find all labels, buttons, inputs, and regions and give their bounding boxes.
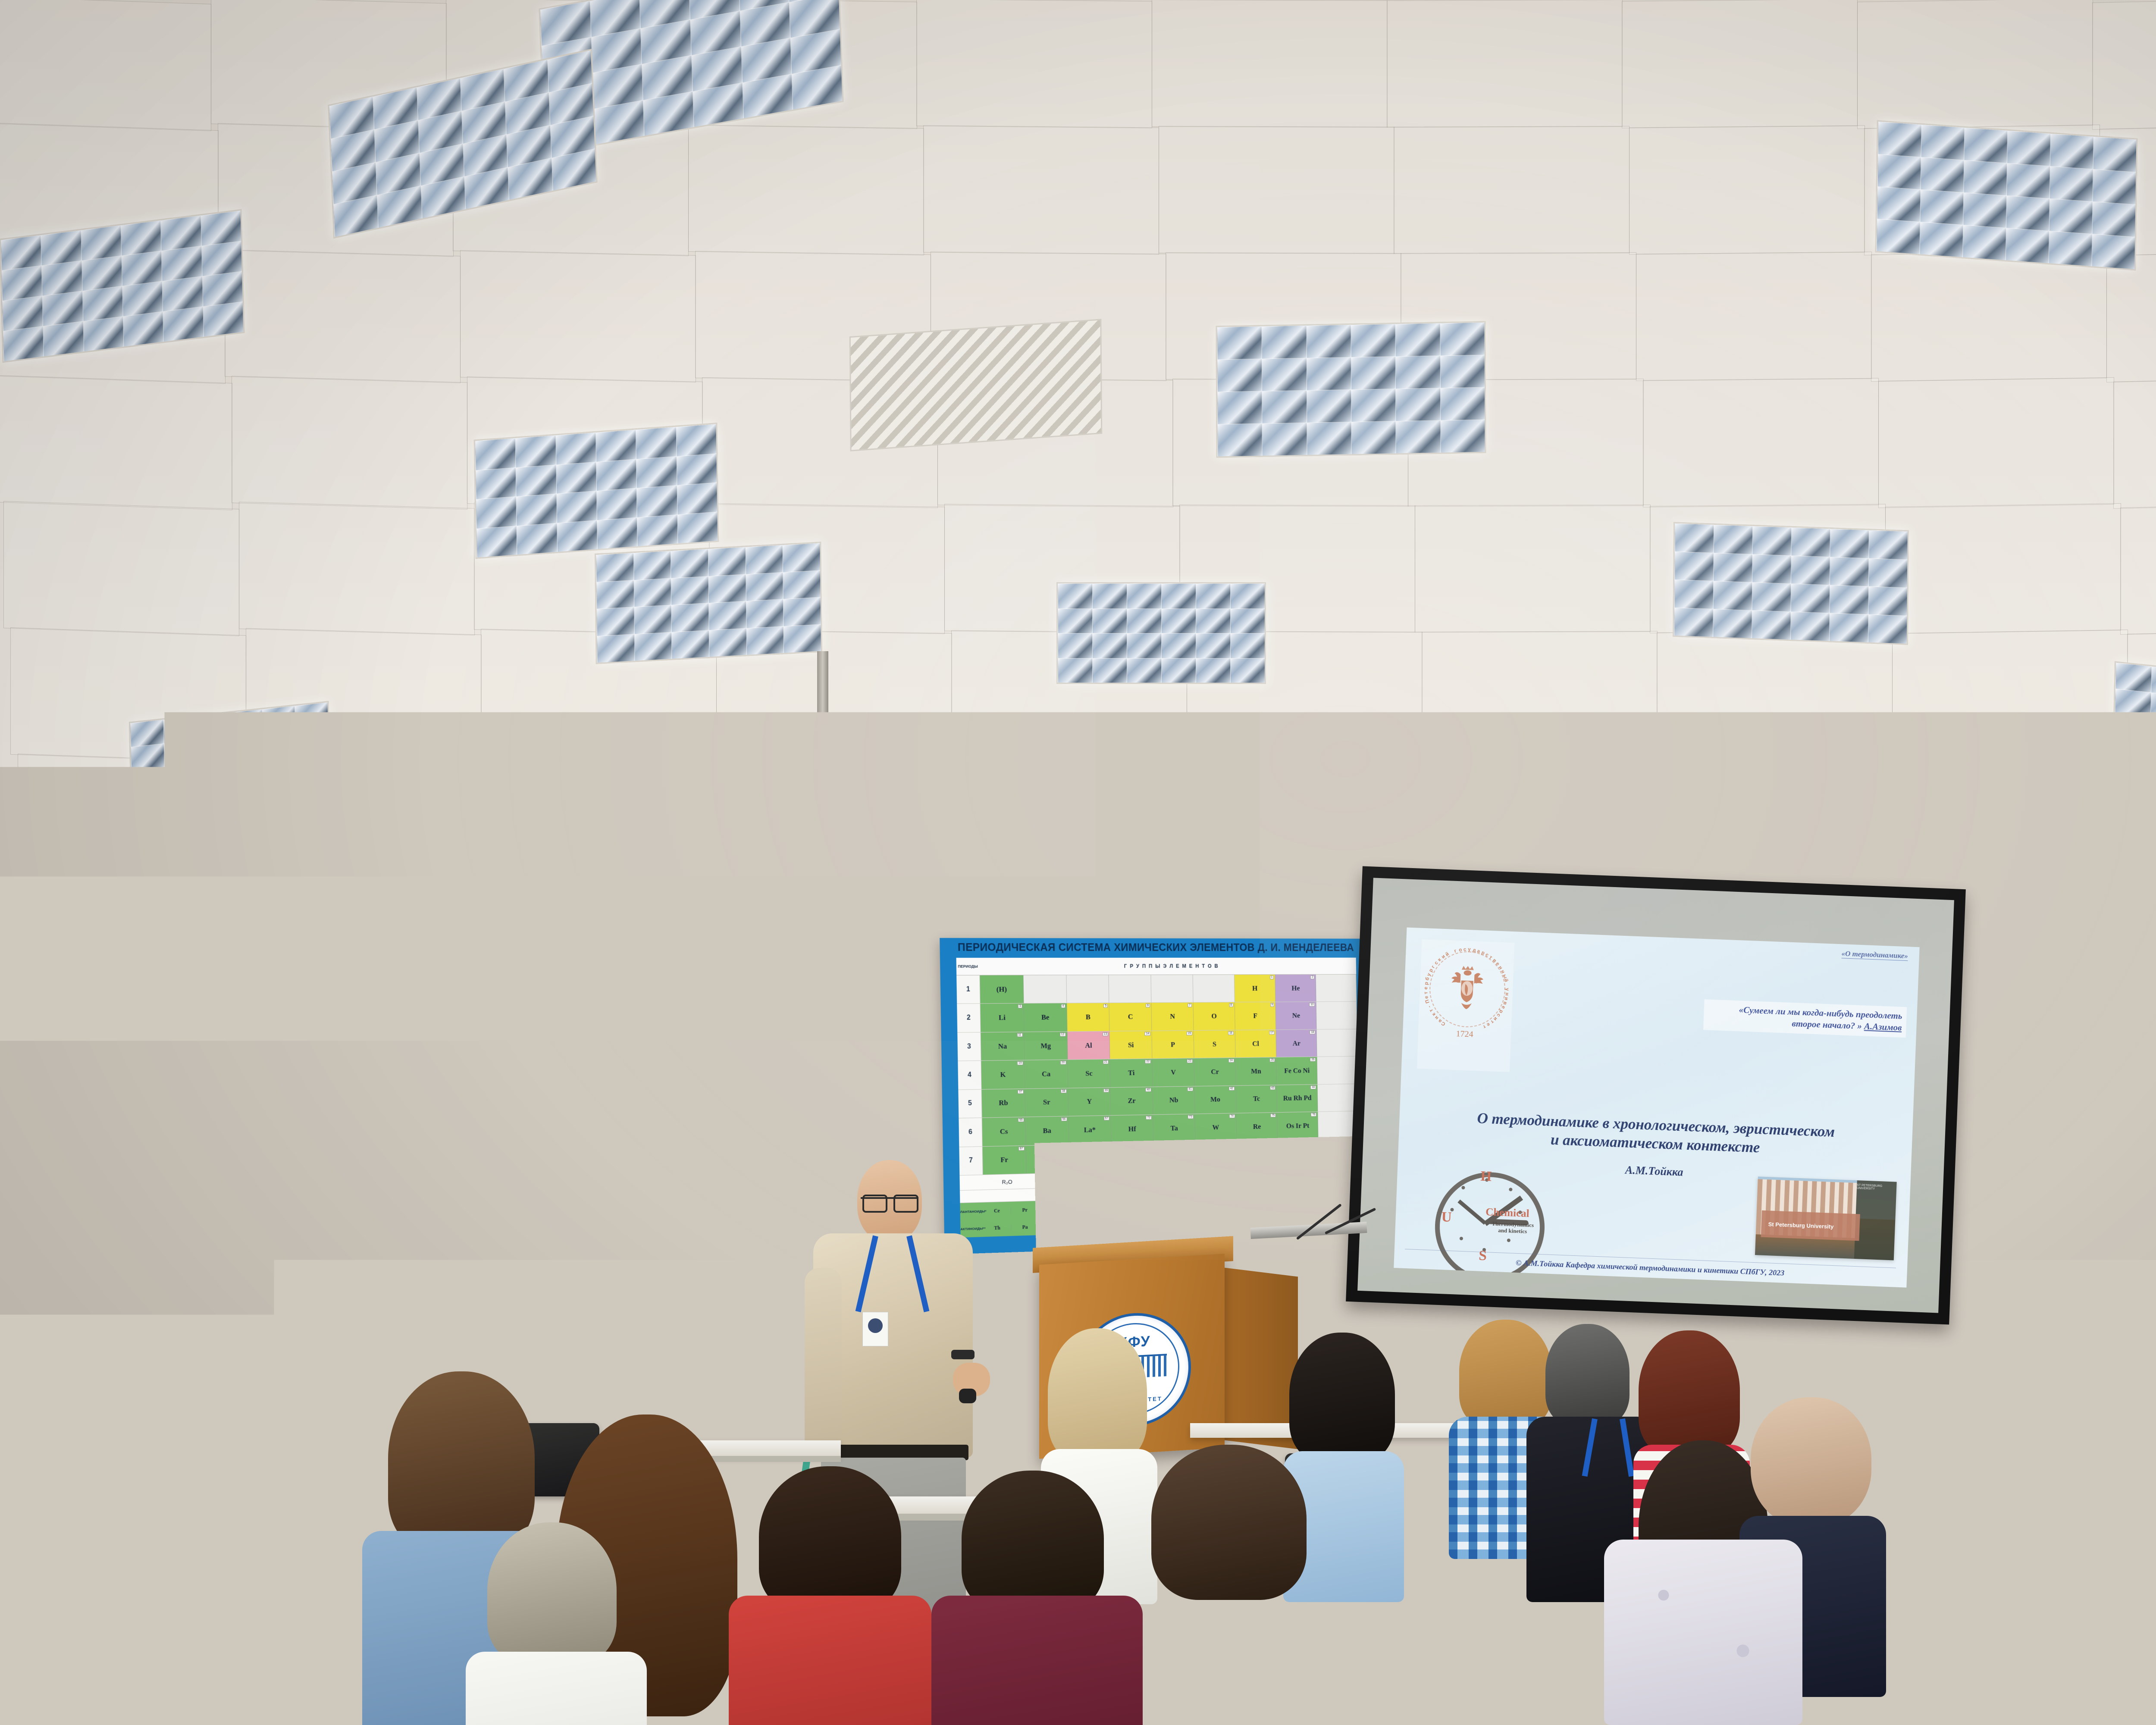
louver-cell — [1161, 633, 1197, 659]
element-symbol: (H) — [997, 985, 1007, 994]
louver-cell — [1752, 610, 1791, 640]
sign-line-3: ОТКРЫВАТЬ — [51, 1268, 83, 1279]
period-number: 3 — [957, 1032, 981, 1061]
element-symbol: Sr — [1043, 1098, 1050, 1107]
louver-cell — [1541, 781, 1572, 804]
louver-cell — [1790, 612, 1830, 642]
louver-cell — [1230, 608, 1266, 634]
ceiling-tile — [1643, 378, 1879, 507]
ceiling-light-panel — [474, 423, 719, 559]
whiteboard[interactable] — [2040, 1043, 2156, 1348]
chair[interactable] — [259, 1466, 367, 1552]
element-symbol: F — [1253, 1012, 1257, 1020]
element-symbol: Cm — [1158, 1220, 1166, 1226]
louver-cell — [476, 467, 517, 500]
hydride-formula: RH — [1268, 1184, 1314, 1192]
element-symbol: Hf — [1128, 1125, 1136, 1133]
actinide-cell: Bk — [1175, 1219, 1202, 1226]
louver-cell — [516, 464, 557, 497]
louver-cell — [1230, 658, 1266, 684]
lanthanide-cell: Eu — [1121, 1203, 1148, 1210]
ceiling-tile — [1152, 0, 1388, 128]
element-symbol: C — [1128, 1013, 1133, 1021]
louver-cell — [1217, 326, 1263, 361]
atomic-number: 108 — [1310, 1140, 1317, 1144]
element-symbol: Sm — [1104, 1204, 1111, 1211]
atomic-number: 1 — [1270, 975, 1274, 979]
louver-cell — [596, 580, 635, 609]
louver-cell — [1661, 746, 1692, 769]
louver-cell — [1351, 421, 1397, 455]
element-symbol: Y — [1087, 1098, 1092, 1106]
louver-cell — [634, 632, 673, 662]
louver-cell — [1217, 423, 1263, 458]
louver-cell — [633, 551, 672, 580]
louver-cell — [1631, 745, 1662, 768]
louver-cell — [1262, 326, 1307, 360]
actinide-cell: U — [1039, 1223, 1067, 1230]
atomic-number: 14 — [1145, 1032, 1150, 1036]
louver-cell — [1395, 323, 1441, 357]
louver-cell — [1570, 803, 1601, 826]
presenter-remote[interactable] — [959, 1389, 976, 1403]
element-symbol: H — [1252, 984, 1258, 992]
louver-cell — [1262, 390, 1307, 424]
slide-title: О термодинамике в хронологическом, эврис… — [1411, 1107, 1899, 1162]
louver-cell — [1306, 357, 1352, 391]
louver-cell — [1351, 389, 1397, 423]
louver-cell — [1631, 786, 1662, 809]
louver-cell — [595, 430, 637, 462]
louver-cell — [676, 453, 718, 486]
louver-cell — [1306, 325, 1352, 359]
atomic-number: 10 — [1310, 1003, 1315, 1007]
louver-cell — [1540, 801, 1571, 824]
louver-cell — [1440, 387, 1486, 421]
louver-cell — [2006, 228, 2050, 264]
louver-cell — [1058, 583, 1093, 609]
atomic-number: 89 — [1104, 1145, 1110, 1148]
louver-cell — [1714, 525, 1753, 555]
atomic-number: 37 — [1018, 1090, 1024, 1094]
atomic-number: 12 — [1060, 1032, 1065, 1036]
atomic-number: 24 — [1228, 1059, 1234, 1063]
element-symbol: Be — [1041, 1013, 1050, 1022]
clock-letter-u: U — [1441, 1209, 1452, 1226]
periodic-table-period-row: 3Na11Mg12Al13Si14P15S16Cl17Ar18 — [957, 1029, 1357, 1061]
louver-cell — [1713, 581, 1753, 611]
louver-cell — [1196, 608, 1231, 634]
period-number: 4 — [958, 1061, 981, 1089]
louver-cell — [745, 545, 783, 575]
lecture-hall-photo: ОКНО НЕ ОТКРЫВАТЬ ПЕРИОДИЧЕСКАЯ СИСТЕМА … — [0, 0, 2156, 1725]
louver-cell — [1791, 583, 1830, 614]
whiteboard-surface[interactable] — [2045, 1048, 2156, 1343]
lanthanide-cell: Er — [1255, 1200, 1282, 1207]
element-symbol: Fr — [1000, 1156, 1008, 1164]
photo-dark-panel: ST PETERSBURG UNIVERSITY — [1854, 1180, 1897, 1260]
louver-cell — [2049, 231, 2093, 267]
louver-cell — [1868, 558, 1908, 588]
element-symbol: Li — [999, 1013, 1006, 1022]
ceiling-tile — [2092, 0, 2156, 130]
element-symbol: Mg — [1040, 1041, 1051, 1050]
element-symbol: Nd — [1049, 1206, 1056, 1212]
crest-ring-letter: е — [1500, 1005, 1506, 1010]
crest-ring-letter: в — [1502, 1001, 1508, 1005]
lanthanide-cell: Yb — [1308, 1198, 1334, 1205]
ceiling-tile — [0, 375, 232, 510]
element-symbol: Mo — [1210, 1095, 1220, 1104]
louver-cell — [1262, 423, 1308, 457]
louver-cell — [2115, 689, 2152, 719]
periodic-table-poster: ПЕРИОДИЧЕСКАЯ СИСТЕМА ХИМИЧЕСКИХ ЭЛЕМЕНТ… — [940, 938, 1375, 1259]
louver-cell — [1395, 388, 1441, 422]
desk — [1833, 1440, 2109, 1455]
element-symbol: Pr — [1022, 1207, 1028, 1213]
atomic-number: 107 — [1269, 1141, 1276, 1145]
ceiling-tile — [1387, 0, 1623, 128]
ceiling-tile — [1629, 125, 1865, 254]
element-symbol: Al — [1085, 1041, 1092, 1050]
louver-cell — [1247, 821, 1275, 841]
actinide-cell: Cm — [1149, 1219, 1176, 1226]
louver-cell — [1921, 125, 1965, 161]
louver-cell — [1247, 803, 1275, 823]
element-cell: He2 — [1275, 975, 1316, 1002]
ceiling-light-panel — [1875, 120, 2138, 271]
louver-cell — [1161, 583, 1197, 609]
louver-cell — [1868, 614, 1908, 644]
louver-cell — [1440, 323, 1485, 357]
ceiling-tile — [225, 249, 461, 383]
ceiling-air-vent — [949, 789, 1081, 848]
ceiling-tile — [1878, 377, 2114, 508]
actinide-cell: Th — [983, 1224, 1011, 1232]
element-cell: Mo42 — [1194, 1086, 1236, 1114]
element-cell: Os Ir Pt76 — [1277, 1112, 1318, 1140]
element-cell: Li3 — [981, 1004, 1025, 1032]
element-symbol: Mn — [1251, 1067, 1261, 1076]
louver-cell — [1919, 222, 1964, 258]
louver-cell — [1829, 613, 1869, 643]
crest-ring-letter: е — [1485, 1021, 1491, 1027]
actinide-cell: Md — [1282, 1215, 1308, 1222]
louver-cell — [1791, 527, 1830, 558]
element-cell: K19 — [981, 1060, 1025, 1089]
presenter-left-arm — [805, 1268, 842, 1453]
louver-cell — [709, 628, 747, 658]
element-cell: Y39 — [1068, 1088, 1111, 1116]
louver-cell — [197, 784, 232, 812]
ceiling-tile — [2113, 376, 2156, 509]
louver-cell — [746, 626, 784, 655]
oxide-formula: RO₂ — [1128, 1174, 1175, 1182]
louver-cell — [1193, 804, 1221, 824]
element-symbol: Eu — [1131, 1204, 1138, 1210]
louver-cell — [1631, 765, 1662, 788]
atomic-number: 104 — [1145, 1144, 1152, 1148]
ceiling-tile — [2120, 503, 2156, 635]
crest-ring-letter: и — [1503, 997, 1509, 1000]
element-cell: Sc21 — [1068, 1060, 1111, 1088]
smoke-detector — [1746, 776, 1766, 785]
atomic-number: 72 — [1146, 1116, 1152, 1120]
crest-ring-letter: р — [1498, 1009, 1504, 1014]
louver-cell — [671, 630, 710, 659]
louver-cell — [746, 572, 784, 602]
presenter-glasses-lens — [862, 1195, 887, 1213]
crest-ring-letter: к — [1437, 957, 1442, 963]
louver-cell — [1161, 608, 1197, 634]
louver-cell — [1752, 582, 1792, 612]
atomic-number: 7 — [1188, 1004, 1191, 1007]
louver-cell — [1351, 324, 1396, 358]
element-cell — [1151, 975, 1194, 1003]
louver-cell — [783, 624, 822, 654]
element-symbol: Tc — [1253, 1095, 1260, 1104]
element-cell: Ca20 — [1025, 1060, 1068, 1088]
atomic-number: 76 — [1311, 1113, 1316, 1117]
louver-cell — [1661, 808, 1692, 831]
atomic-number: 56 — [1061, 1117, 1067, 1121]
wall-socket-plate[interactable] — [1992, 1195, 2013, 1218]
ceiling-tile — [1892, 630, 2128, 760]
element-symbol: Cr — [1211, 1068, 1219, 1076]
crest-ring-letter: и — [1440, 953, 1446, 960]
lanthanide-cell: Dy — [1202, 1201, 1229, 1208]
element-symbol: Ho — [1239, 1201, 1245, 1207]
louver-cell — [1217, 391, 1263, 425]
ceiling-tile — [1657, 630, 1893, 760]
element-cell — [1318, 1084, 1358, 1111]
atomic-number: 38 — [1061, 1089, 1066, 1093]
louver-cell — [1963, 160, 2008, 196]
louver-cell — [1675, 524, 1714, 554]
element-symbol: Er — [1266, 1200, 1271, 1206]
element-cell — [1317, 1057, 1358, 1084]
louver-cell — [2092, 201, 2136, 238]
spbu-watermark: ST PETERSBURG UNIVERSITY — [1857, 1184, 1893, 1191]
atomic-number: 105 — [1187, 1143, 1194, 1147]
quote-line-2-text: второе начало? » — [1792, 1018, 1865, 1031]
louver-cell — [2050, 134, 2094, 170]
atomic-number: 3 — [1018, 1004, 1022, 1008]
louver-cell — [1262, 358, 1307, 392]
atomic-number: 88 — [1062, 1145, 1067, 1149]
louver-cell — [1302, 802, 1330, 822]
element-symbol: S — [1213, 1040, 1216, 1048]
crest-ring-letter: с — [1495, 1012, 1501, 1017]
atomic-number: 21 — [1103, 1060, 1109, 1064]
element-cell — [1023, 975, 1067, 1003]
louver-cell — [1302, 820, 1330, 840]
crest-ring-letter: - — [1426, 1004, 1432, 1008]
ceiling-tile — [232, 376, 467, 509]
atomic-number: 13 — [1103, 1032, 1108, 1036]
atomic-number: 11 — [1017, 1033, 1022, 1037]
element-symbol: Md — [1291, 1216, 1298, 1222]
crest-ring-letter: р — [1480, 950, 1485, 956]
louver-cell — [1674, 580, 1714, 610]
louver-cell — [1058, 658, 1093, 684]
louver-cell — [1713, 553, 1753, 583]
louver-cell — [1092, 583, 1128, 609]
louver-cell — [1166, 823, 1194, 843]
louver-cell — [476, 525, 518, 558]
crest-ring-letter: у — [1504, 988, 1509, 991]
louver-cell — [1571, 741, 1602, 764]
crest-ring-letter: а — [1476, 948, 1480, 954]
element-cell: Hs Mt108 — [1278, 1139, 1319, 1167]
louver-cell — [263, 777, 297, 805]
louver-cell — [1601, 763, 1632, 786]
element-cell — [1316, 975, 1357, 1002]
ceiling-tile — [1636, 251, 1872, 381]
element-cell: Al13 — [1067, 1031, 1110, 1059]
ceiling-air-vent — [849, 319, 1102, 451]
presenter-glasses-lens — [893, 1195, 918, 1213]
louver-cell — [636, 456, 677, 489]
window-mullion — [0, 988, 289, 996]
element-cell: W74 — [1195, 1113, 1237, 1142]
smoke-detector — [1078, 770, 1098, 778]
element-symbol: He — [1291, 984, 1300, 992]
clock-word-sub: Thermodynamics and kinetics — [1482, 1220, 1543, 1236]
atomic-number: 26 — [1310, 1058, 1316, 1062]
window-sill — [0, 1380, 298, 1395]
element-symbol: Bh — [1253, 1150, 1262, 1159]
water-bottle-label — [1996, 1379, 2015, 1389]
louver-cell — [555, 433, 597, 465]
element-cell: Fe Co Ni26 — [1276, 1057, 1317, 1085]
spbu-photo-banner: St Petersburg University — [1761, 1211, 1860, 1241]
element-cell — [1193, 975, 1235, 1002]
element-cell: Re75 — [1236, 1113, 1278, 1141]
louver-cell — [597, 634, 635, 664]
oxide-formula: R₂O₇ — [1268, 1171, 1314, 1178]
atomic-number: 19 — [1017, 1061, 1023, 1065]
periodic-table-period-row: 1(H)H1He2 — [956, 975, 1357, 1004]
lanthanide-cell: Tm — [1282, 1199, 1308, 1206]
presentation-slide: «О термодинамике» Санкт-Петербургский го… — [1394, 928, 1919, 1288]
atomic-number: 73 — [1188, 1115, 1194, 1119]
louver-cell — [1092, 608, 1128, 634]
louver-cell — [1396, 420, 1442, 454]
louver-cell — [708, 574, 746, 604]
element-cell: H1 — [1234, 975, 1275, 1002]
element-symbol: Np — [1077, 1222, 1084, 1229]
louver-cell — [2049, 166, 2094, 202]
louver-cell — [1196, 633, 1231, 659]
crest-ring-letter: с — [1484, 952, 1489, 958]
louver-cell — [1601, 743, 1632, 766]
element-symbol: Rb — [999, 1099, 1008, 1107]
wall-switch-plate[interactable] — [1992, 1160, 2013, 1187]
louver-cell — [2049, 198, 2093, 235]
louver-cell — [2115, 662, 2153, 693]
louver-cell — [596, 553, 634, 583]
element-symbol: Sc — [1085, 1069, 1093, 1078]
atomic-number: 23 — [1187, 1059, 1193, 1063]
element-cell — [1317, 1029, 1357, 1057]
element-cell — [1316, 1002, 1357, 1029]
louver-cell — [2150, 744, 2156, 775]
element-cell: Tc43 — [1236, 1085, 1277, 1113]
atomic-number: 55 — [1018, 1118, 1024, 1122]
element-symbol: Gd — [1158, 1203, 1165, 1209]
ceiling-tile — [688, 125, 924, 255]
element-symbol: B — [1086, 1013, 1091, 1022]
element-symbol: Na — [998, 1042, 1007, 1051]
louver-cell — [671, 549, 709, 579]
louver-cell — [557, 520, 598, 552]
atomic-number: 42 — [1229, 1087, 1235, 1091]
crest-ring-letter: т — [1429, 1008, 1434, 1013]
louver-cell — [556, 461, 597, 494]
crest-ring-letter: н — [1497, 965, 1503, 970]
element-symbol: Ca — [1042, 1070, 1050, 1079]
element-cell: Db105 — [1153, 1142, 1196, 1170]
louver-cell — [746, 599, 784, 629]
atomic-number: 22 — [1145, 1060, 1151, 1064]
element-symbol: Ar — [1293, 1039, 1300, 1047]
atomic-number: 6 — [1146, 1004, 1150, 1008]
atomic-number: 39 — [1103, 1088, 1109, 1092]
louver-cell — [596, 607, 635, 637]
atomic-number: 75 — [1270, 1113, 1276, 1117]
louver-cell — [1661, 787, 1692, 810]
lanthanide-cell: Gd — [1148, 1202, 1175, 1209]
actinide-cell: Pa — [1011, 1223, 1039, 1231]
louver-cell — [637, 514, 678, 547]
louver-cell — [1127, 608, 1162, 634]
element-symbol: Cf — [1213, 1218, 1218, 1224]
louver-cell — [1395, 355, 1441, 389]
element-symbol: Ra — [1043, 1155, 1052, 1164]
louver-cell — [1058, 633, 1093, 659]
period-number: 5 — [958, 1089, 982, 1118]
element-symbol: Th — [994, 1225, 1000, 1231]
louver-cell — [1661, 767, 1692, 790]
louver-cell — [636, 485, 678, 518]
crest-ring-letter: р — [1428, 968, 1434, 973]
louver-cell — [1220, 822, 1248, 841]
element-symbol: La* — [1084, 1126, 1096, 1134]
louver-cell — [1166, 804, 1194, 824]
ceiling-light-panel — [1216, 321, 1486, 458]
actinide-cell: Pu — [1094, 1221, 1122, 1228]
element-cell: Fr87 — [983, 1145, 1027, 1174]
louver-cell — [1674, 608, 1714, 638]
element-symbol: Fm — [1265, 1217, 1272, 1223]
louver-cell — [2006, 163, 2051, 199]
element-symbol: Ta — [1170, 1124, 1178, 1132]
element-cell: La*57 — [1069, 1116, 1112, 1144]
louver-cell — [1962, 225, 2007, 261]
louver-cell — [1196, 658, 1231, 684]
louver-cell — [2007, 131, 2051, 167]
ceiling-tile — [923, 125, 1159, 254]
do-not-open-window-sign: ОКНО НЕ ОТКРЫВАТЬ — [50, 1246, 83, 1289]
element-symbol: Hs Mt — [1289, 1149, 1307, 1157]
louver-cell — [1601, 784, 1632, 807]
actinide-cell: Am — [1122, 1220, 1149, 1227]
louver-cell — [634, 605, 672, 634]
oxide-formula: R₂O₅ — [1175, 1173, 1222, 1180]
element-cell: Ru Rh Pd44 — [1277, 1085, 1318, 1112]
element-symbol: Cl — [1252, 1039, 1259, 1048]
